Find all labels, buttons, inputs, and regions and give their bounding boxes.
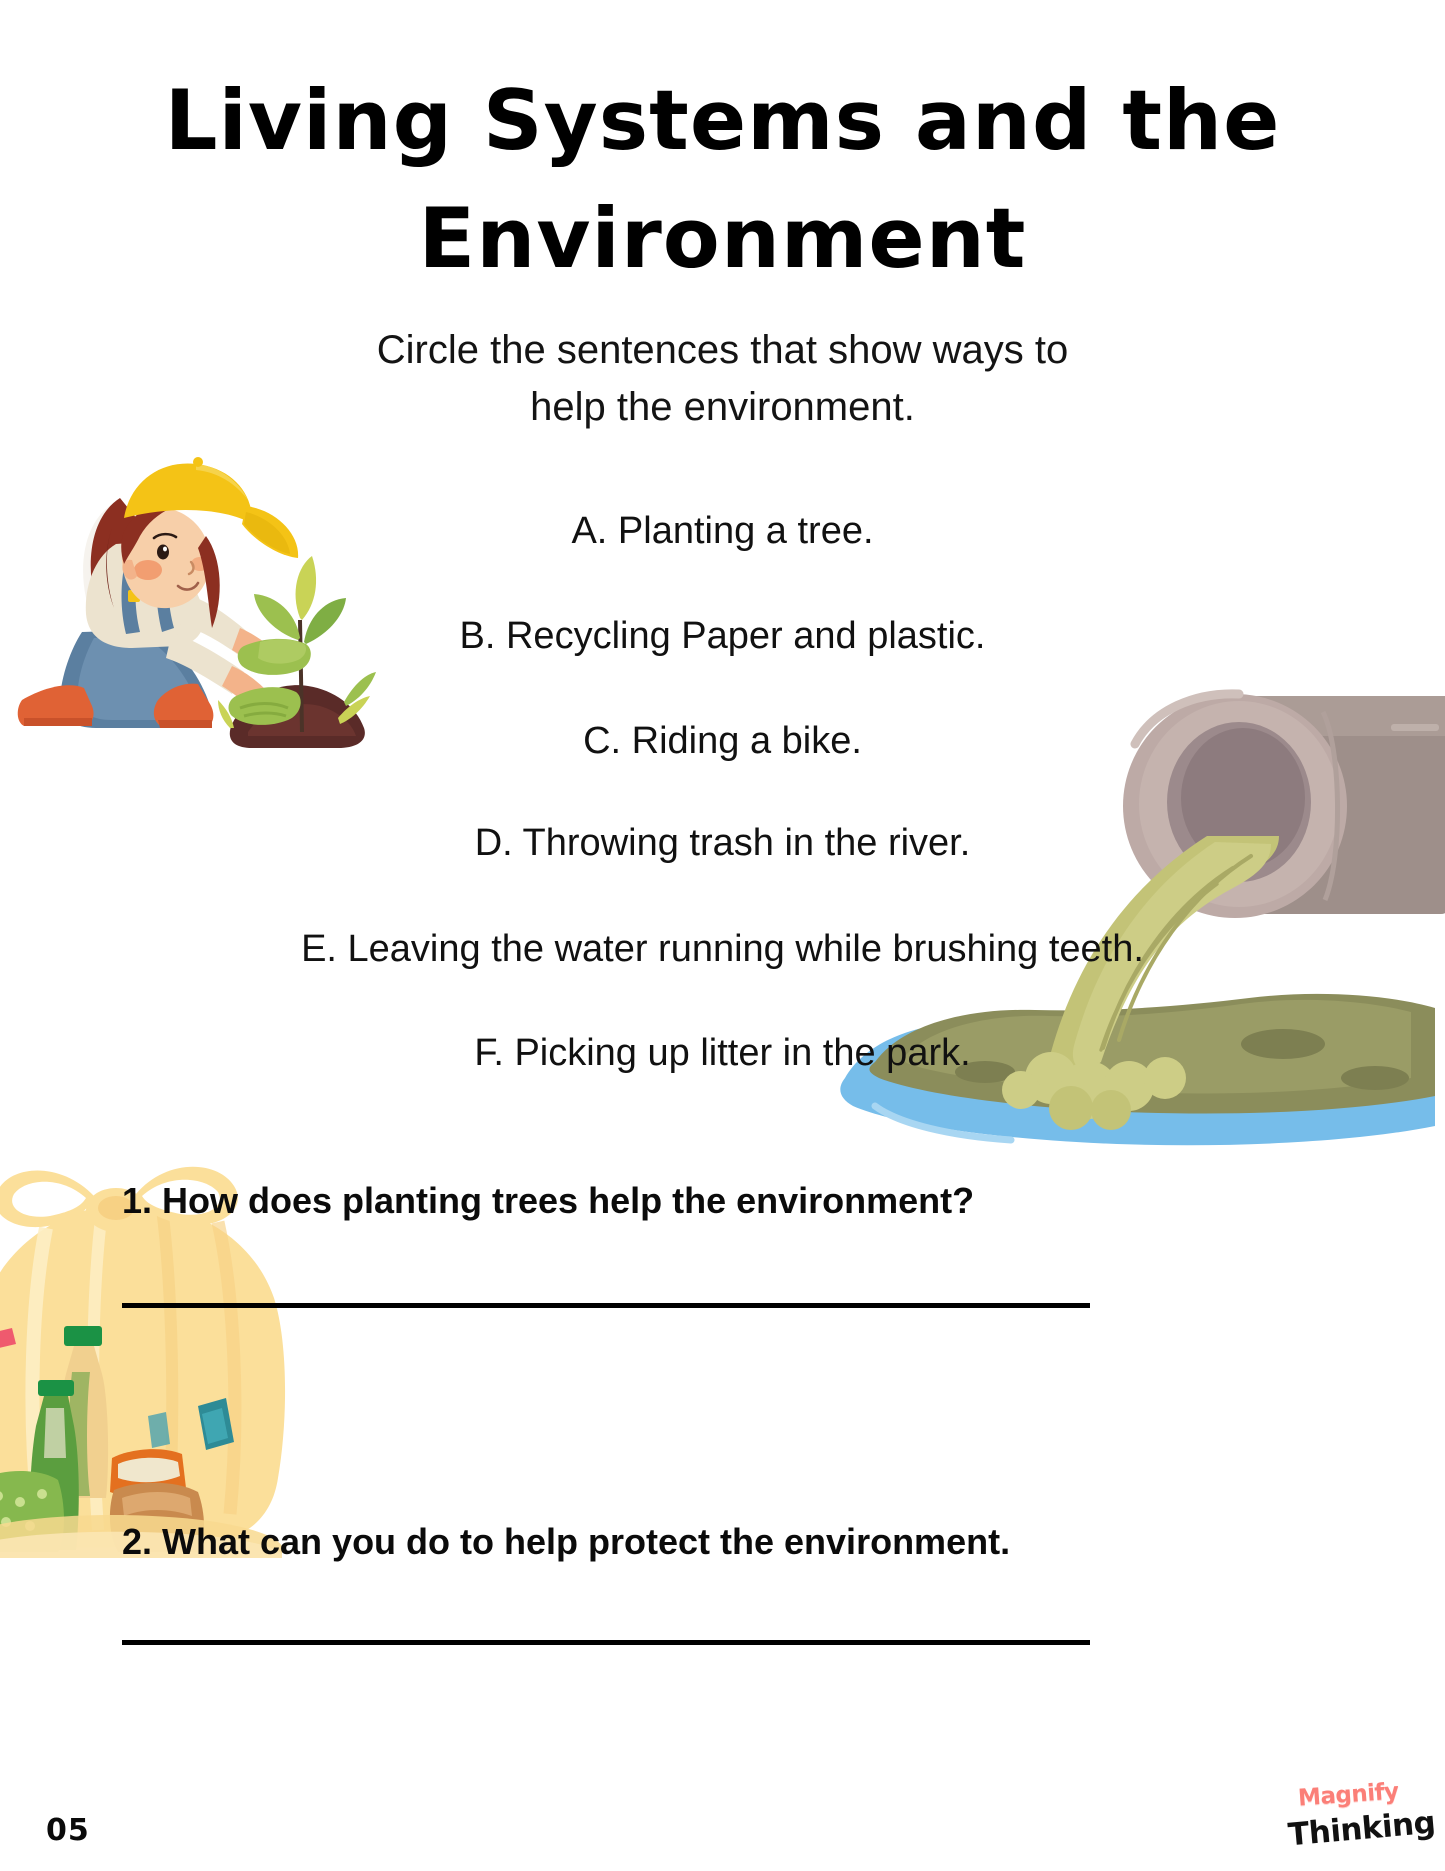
page-title-line-2: Environment [419,190,1027,287]
option-a-label: A. Planting a tree. [571,510,873,552]
page-number: 05 [46,1813,90,1848]
option-c[interactable]: C. Riding a bike. [0,720,1445,763]
option-c-label: C. Riding a bike. [583,720,862,762]
page-title-line-1: Living Systems and the [165,72,1281,169]
option-d-label: D. Throwing trash in the river. [475,822,971,864]
answer-line-2[interactable] [122,1640,1090,1645]
brand-word-thinking: Thinking [1287,1805,1437,1854]
girl-planting-tree-illustration [8,432,388,762]
brand-logo: Magnify Thinking [1288,1782,1428,1866]
question-1-text: 1. How does planting trees help the envi… [122,1180,974,1221]
option-e[interactable]: E. Leaving the water running while brush… [0,928,1445,971]
question-1: 1. How does planting trees help the envi… [122,1180,974,1222]
option-f[interactable]: F. Picking up litter in the park. [0,1032,1445,1075]
option-f-label: F. Picking up litter in the park. [474,1032,970,1074]
brand-word-magnify: Magnify [1297,1779,1399,1812]
option-d[interactable]: D. Throwing trash in the river. [0,822,1445,865]
option-b[interactable]: B. Recycling Paper and plastic. [0,615,1445,658]
option-e-label: E. Leaving the water running while brush… [301,928,1144,970]
option-b-label: B. Recycling Paper and plastic. [460,615,986,657]
option-a[interactable]: A. Planting a tree. [0,510,1445,553]
instruction-text: Circle the sentences that show ways to h… [0,322,1445,436]
question-2: 2. What can you do to help protect the e… [122,1521,1010,1563]
page-title: Living Systems and the Environment [0,62,1445,298]
instruction-line-2: help the environment. [530,385,915,429]
answer-line-1[interactable] [122,1303,1090,1308]
instruction-line-1: Circle the sentences that show ways to [377,328,1068,372]
question-2-text: 2. What can you do to help protect the e… [122,1521,1010,1562]
